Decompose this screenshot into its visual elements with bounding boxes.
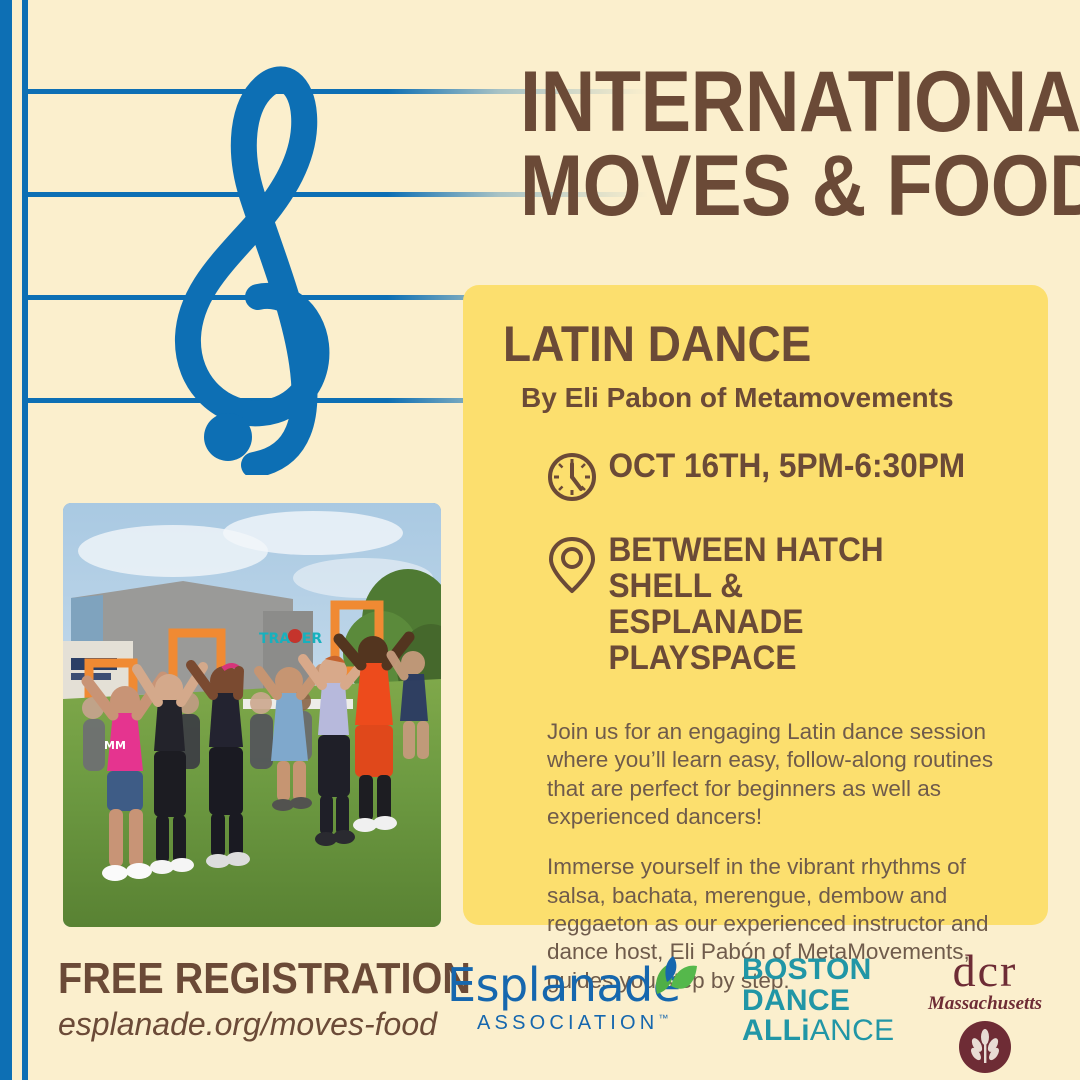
event-details-card: LATIN DANCE By Eli Pabon of Metamovement… <box>463 285 1048 925</box>
bda-line-1: BOSTON <box>742 955 894 986</box>
card-subheading: By Eli Pabon of Metamovements <box>521 383 1010 414</box>
map-pin-icon <box>543 532 601 596</box>
location-line-2: ESPLANADE PLAYSPACE <box>608 604 981 676</box>
esplanade-association-logo: Esplanade ASSOCIATION™ <box>447 962 687 1052</box>
event-time-text: OCT 16TH, 5PM-6:30PM <box>601 448 965 484</box>
description-paragraph-1: Join us for an engaging Latin dance sess… <box>547 718 1017 831</box>
dcr-state-label: Massachusetts <box>925 993 1045 1015</box>
left-blue-bar-thick <box>0 0 12 1080</box>
trademark-symbol: ™ <box>658 1013 668 1024</box>
bda-line-3-light: ANCE <box>810 1014 895 1047</box>
esplanade-leaf-icon <box>627 956 697 1014</box>
dcr-massachusetts-logo: dcr Massachusetts <box>925 950 1045 1073</box>
esplanade-subtitle-text: ASSOCIATION <box>477 1012 658 1034</box>
poster-title: INTERNATIONAL MOVES & FOOD <box>520 60 1048 229</box>
boston-dance-alliance-logo: BOSTON DANCE ALLiANCE <box>742 955 894 1047</box>
left-blue-bar-thin <box>22 0 28 1080</box>
clock-icon <box>543 448 601 504</box>
free-registration-heading: FREE REGISTRATION <box>58 957 471 1001</box>
poster-canvas: INTERNATIONAL MOVES & FOOD <box>0 0 1080 1080</box>
svg-text:MM: MM <box>104 739 126 752</box>
dcr-wordmark: dcr <box>925 950 1045 991</box>
registration-url[interactable]: esplanade.org/moves-food <box>58 1008 437 1040</box>
title-line-2: MOVES & FOOD <box>520 144 1048 228</box>
location-line-1: BETWEEN HATCH SHELL & <box>608 532 981 604</box>
dcr-leaf-emblem-icon <box>959 1021 1011 1073</box>
title-line-1: INTERNATIONAL <box>520 60 1048 144</box>
card-heading: LATIN DANCE <box>503 319 969 369</box>
bda-line-3-bold: ALLi <box>742 1014 810 1047</box>
event-location-text: BETWEEN HATCH SHELL & ESPLANADE PLAYSPAC… <box>601 532 981 676</box>
bda-line-2: DANCE <box>742 986 894 1017</box>
event-photo: TRADER <box>63 503 441 927</box>
event-time-row: OCT 16TH, 5PM-6:30PM <box>543 448 1010 504</box>
treble-clef-icon <box>150 45 360 475</box>
esplanade-subtitle: ASSOCIATION™ <box>477 1012 687 1035</box>
bda-line-3: ALLiANCE <box>742 1016 894 1047</box>
event-location-row: BETWEEN HATCH SHELL & ESPLANADE PLAYSPAC… <box>543 532 1010 676</box>
